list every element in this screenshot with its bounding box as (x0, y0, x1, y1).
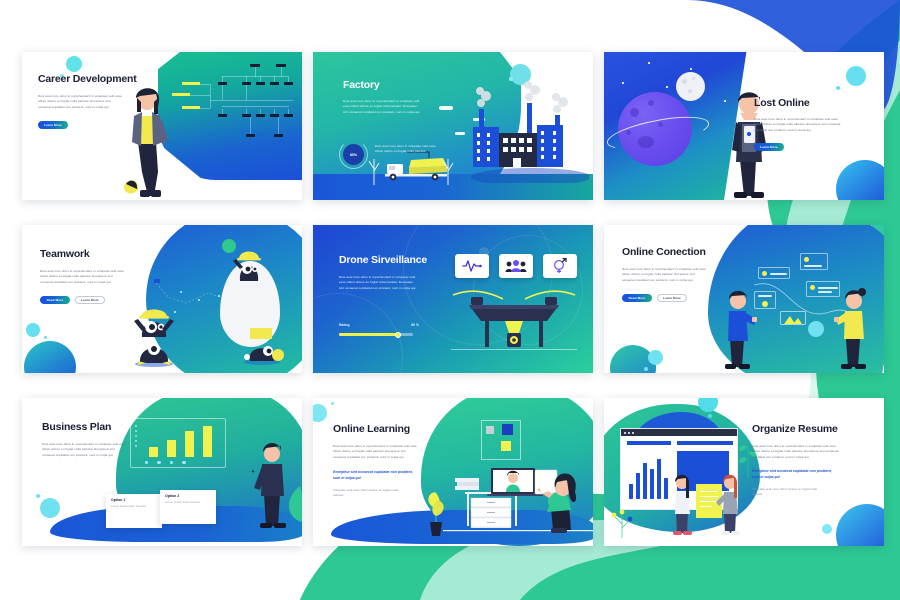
drone-illustration (451, 277, 577, 355)
bar (650, 469, 654, 499)
penguin-character-illustration (232, 239, 266, 283)
button-row: Read More Learn More (622, 294, 734, 302)
cloud-shape (455, 132, 465, 135)
gender-symbol-icon (553, 258, 567, 274)
slider-knob[interactable] (395, 332, 401, 338)
slider-label: Rating (339, 323, 350, 329)
decorative-bubble (708, 414, 712, 418)
bar (629, 484, 633, 499)
slide-text-block: Organize Resume Duis aute irure dolor in… (752, 424, 868, 497)
decorative-bubble (44, 336, 47, 339)
page-title: Online Conection (622, 247, 734, 259)
decorative-bubble (644, 367, 648, 371)
subbody-text: Voluptate velit esse cillum dolore eu fu… (333, 488, 407, 499)
subbody-text: Voluptate velit esse cillum dolore eu fu… (752, 487, 828, 498)
page-title: Career Development (38, 74, 138, 86)
bar (643, 463, 647, 499)
quote-text: Excepteur sint occaecat cupidatat non pr… (333, 470, 415, 482)
woman-figure-illustration (834, 279, 874, 371)
woman-figure-illustration (668, 468, 696, 536)
slide-text-block: Drone Sirveillance Duis aute irure dolor… (339, 255, 433, 291)
bar (636, 473, 640, 499)
read-more-button[interactable]: Read More (622, 294, 652, 302)
pulse-icon (462, 260, 482, 272)
moon-illustration (676, 72, 705, 101)
decorative-bubble (822, 524, 832, 534)
button-row: Read More Learn More (40, 296, 144, 304)
bar-chart (629, 457, 671, 499)
body-text: Duis aute irure dolor in reprehenderit i… (38, 94, 122, 110)
option-card[interactable]: Option 1 Lorem ipsum dolor sit amet. (106, 494, 162, 528)
people-group-icon (505, 260, 527, 273)
decorative-bubble (313, 404, 327, 422)
slide-text-block: Career Development Duis aute irure dolor… (38, 74, 138, 131)
slide-text-block: Online Conection Duis aute irure dolor i… (622, 247, 734, 302)
bar-chart-bars (145, 425, 217, 457)
bar (149, 447, 158, 457)
decorative-bubble (698, 398, 718, 412)
yellow-card (250, 328, 272, 339)
corner-blob (24, 341, 76, 373)
slide-canvas: Organize Resume Duis aute irure dolor in… (604, 398, 884, 546)
decorative-bubble (26, 323, 40, 337)
page-title: Lost Online (754, 98, 862, 110)
learn-more-button[interactable]: Learn More (75, 296, 105, 304)
ui-card (758, 267, 790, 279)
org-chart-illustration (208, 62, 296, 172)
slider-fill (339, 333, 398, 336)
slide-career-development[interactable]: Career Development Duis aute irure dolor… (22, 52, 302, 200)
decorative-bubble (40, 498, 60, 518)
plant-illustration (441, 155, 455, 185)
browser-title-bar (621, 429, 737, 436)
option-body: Lorem ipsum dolor sit amet. (165, 500, 211, 505)
corner-blob (836, 504, 884, 546)
read-more-button[interactable]: Read More (40, 296, 70, 304)
body-text: Duis aute irure dolor in reprehenderit i… (343, 99, 423, 115)
page-title: Business Plan (42, 422, 142, 434)
slide-canvas: Online Conection Duis aute irure dolor i… (604, 225, 884, 373)
bar (185, 431, 194, 457)
quote-text: Excepteur sint occaecat cupidatat non pr… (752, 469, 838, 481)
slide-canvas: Online Learning Duis aute irure dolor in… (313, 398, 593, 546)
sticky-note (486, 426, 494, 434)
factory-illustration (469, 79, 589, 183)
ui-card (800, 253, 828, 270)
slide-online-conection[interactable]: Online Conection Duis aute irure dolor i… (604, 225, 884, 373)
slide-teamwork[interactable]: Teamwork Duis aute irure dolor in repreh… (22, 225, 302, 373)
slide-canvas: Career Development Duis aute irure dolor… (22, 52, 302, 200)
gender-symbol-icon-card[interactable] (543, 254, 577, 278)
body-text: Duis aute irure dolor in reprehenderit i… (40, 269, 124, 285)
slider-value: 80 % (411, 323, 419, 329)
slide-canvas: Drone Sirveillance Duis aute irure dolor… (313, 225, 593, 373)
slide-grid: Career Development Duis aute irure dolor… (0, 0, 900, 600)
bar (167, 440, 176, 457)
option-card[interactable]: Option 2 Lorem ipsum dolor sit amet. (160, 490, 216, 524)
stat-percentage: 80% (343, 144, 364, 165)
slide-factory[interactable]: 80% Duis aute irure dolor in voluptate v… (313, 52, 593, 200)
decorative-bubble (836, 86, 840, 90)
slide-canvas: Option 1 Lorem ipsum dolor sit amet. Opt… (22, 398, 302, 546)
slide-lost-online[interactable]: Lost Online Duis aute irure dolor in rep… (604, 52, 884, 200)
slide-text-block: Lost Online Duis aute irure dolor in rep… (754, 98, 862, 153)
learn-more-button[interactable]: Learn More (657, 294, 687, 302)
bar (203, 426, 212, 457)
leaf-illustration (282, 484, 302, 524)
slide-business-plan[interactable]: Option 1 Lorem ipsum dolor sit amet. Opt… (22, 398, 302, 546)
slide-canvas: 80% Duis aute irure dolor in voluptate v… (313, 52, 593, 200)
bar (657, 459, 661, 499)
slide-canvas: Teamwork Duis aute irure dolor in repreh… (22, 225, 302, 373)
decorative-bubble (36, 494, 40, 498)
sticky-note (502, 424, 513, 435)
page-title: Factory (343, 80, 435, 92)
bar-chart-panel (130, 418, 226, 468)
slide-canvas: Lost Online Duis aute irure dolor in rep… (604, 52, 884, 200)
body-text: Duis aute irure dolor in reprehenderit i… (339, 275, 419, 291)
decorative-bubble (846, 66, 866, 86)
woman-figure-illustration (716, 468, 744, 536)
decorative-bubble (648, 350, 663, 365)
body-text: Duis aute irure dolor in reprehenderit i… (754, 117, 842, 133)
body-text: Duis aute irure dolor in reprehenderit i… (333, 444, 419, 460)
page-title: Teamwork (40, 249, 144, 261)
page-title: Drone Sirveillance (339, 255, 433, 267)
option-body: Lorem ipsum dolor sit amet. (111, 504, 157, 509)
desk-scene-illustration (443, 448, 593, 534)
page-title: Organize Resume (752, 424, 868, 436)
slide-text-block: Teamwork Duis aute irure dolor in repreh… (40, 249, 144, 304)
slide-drone-surveillance[interactable]: Drone Sirveillance Duis aute irure dolor… (313, 225, 593, 373)
rating-slider[interactable]: Rating 80 % (339, 323, 419, 338)
pulse-icon-card[interactable] (455, 254, 489, 278)
slide-organize-resume[interactable]: Organize Resume Duis aute irure dolor in… (604, 398, 884, 546)
option-title: Option 1 (111, 498, 157, 502)
body-text: Duis aute irure dolor in reprehenderit i… (42, 442, 126, 458)
learn-more-button[interactable]: Learn More (754, 143, 784, 151)
body-text: Duis aute irure dolor in reprehenderit i… (752, 444, 842, 460)
decorative-bubble (331, 402, 334, 405)
slide-text-block: Business Plan Duis aute irure dolor in r… (42, 422, 142, 458)
learn-more-button[interactable]: Learn More (38, 121, 68, 129)
stat-caption: Duis aute irure dolor in voluptate velit… (375, 144, 441, 155)
leaf-illustration (610, 504, 636, 538)
people-group-icon-card[interactable] (499, 254, 533, 278)
slide-online-learning[interactable]: Online Learning Duis aute irure dolor in… (313, 398, 593, 546)
plant-illustration (367, 155, 381, 185)
slide-text-block: Online Learning Duis aute irure dolor in… (333, 424, 437, 498)
option-title: Option 2 (165, 494, 211, 498)
slide-text-block: Factory Duis aute irure dolor in reprehe… (343, 80, 435, 115)
body-text: Duis aute irure dolor in reprehenderit i… (622, 267, 706, 283)
page-title: Online Learning (333, 424, 437, 436)
decorative-bubble (66, 56, 82, 72)
cloud-shape (439, 106, 453, 110)
